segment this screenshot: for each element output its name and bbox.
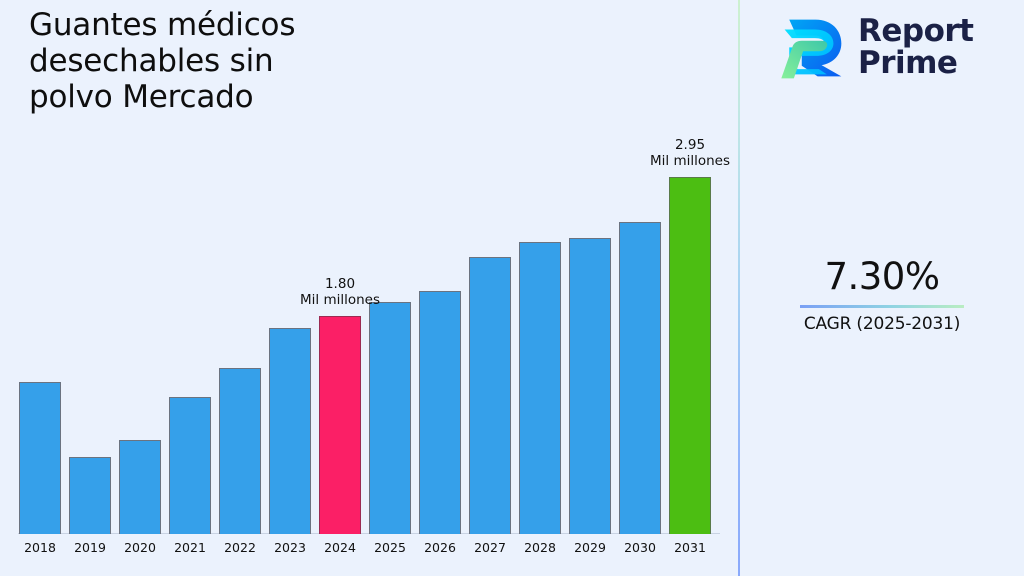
cagr-value: 7.30%	[740, 258, 1024, 295]
cagr-caption: CAGR (2025-2031)	[740, 314, 1024, 334]
bar-2023	[269, 328, 311, 534]
bar-chart: 2018201920202021202220232024202520262027…	[0, 0, 739, 576]
bar-2027	[469, 257, 511, 534]
bar-2031	[669, 177, 711, 534]
bar-2024	[319, 316, 361, 534]
logo-wordmark: Report Prime	[858, 16, 974, 79]
bar-2025	[369, 302, 411, 534]
bar-2026	[419, 291, 461, 534]
bar-2028	[519, 242, 561, 534]
logo: Report Prime	[778, 16, 974, 79]
bar-2020	[119, 440, 161, 534]
report-prime-logo-icon	[778, 17, 844, 79]
bar-2018	[19, 382, 61, 534]
x-tick-2031: 2031	[655, 540, 725, 555]
bar-2030	[619, 222, 661, 534]
chart-panel: Guantes médicos desechables sin polvo Me…	[0, 0, 739, 576]
bar-2019	[69, 457, 111, 534]
bar-2022	[219, 368, 261, 534]
bar-2029	[569, 238, 611, 534]
cagr-divider-rule	[800, 305, 964, 308]
bar-2021	[169, 397, 211, 534]
brand-panel: Report Prime 7.30% CAGR (2025-2031)	[740, 0, 1024, 576]
cagr-block: 7.30% CAGR (2025-2031)	[740, 258, 1024, 334]
